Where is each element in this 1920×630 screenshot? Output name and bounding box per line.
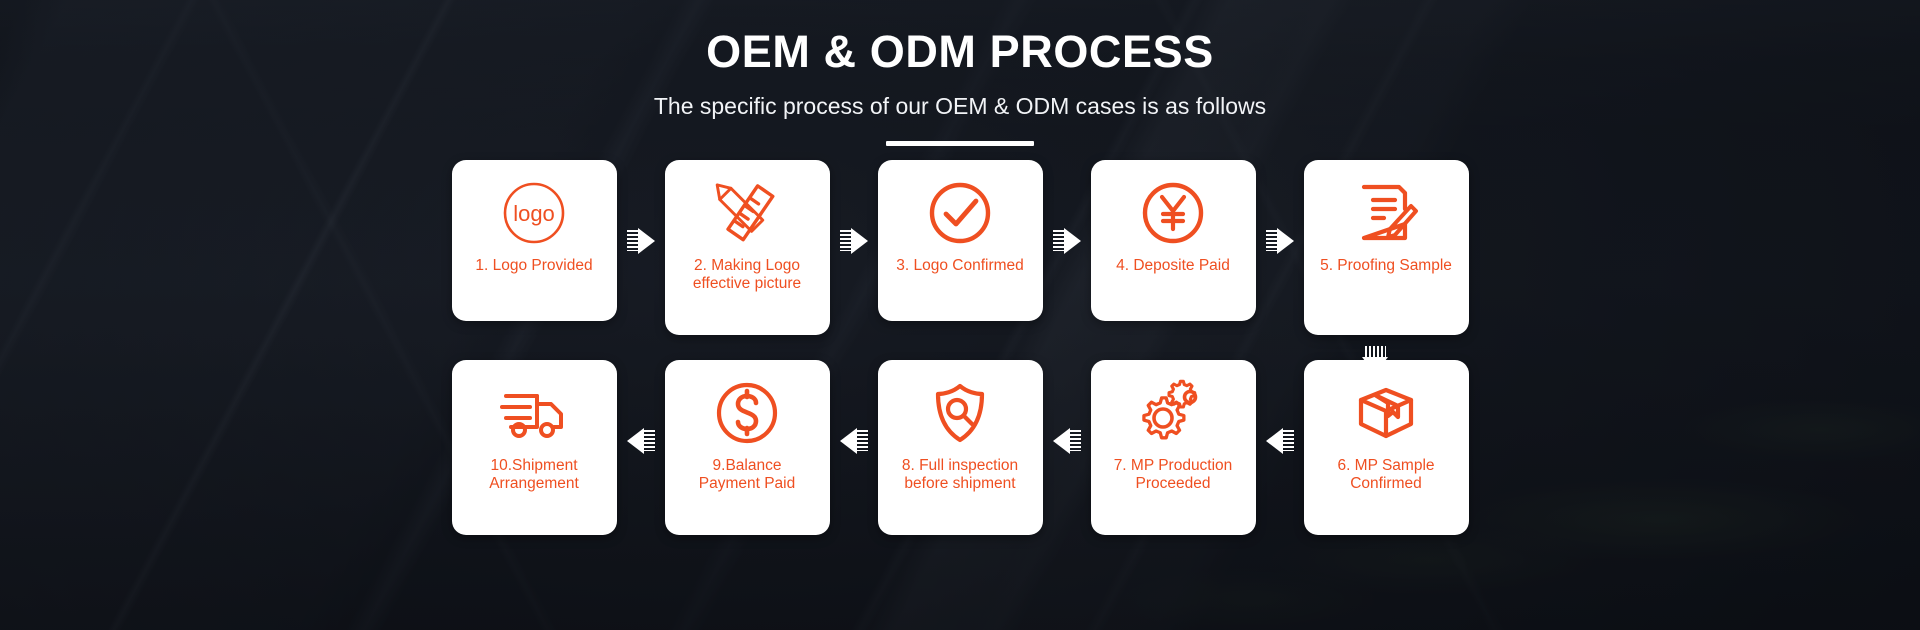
arrow-tail bbox=[1365, 346, 1386, 357]
dollar-circle-icon bbox=[710, 376, 784, 450]
yen-circle-icon bbox=[1136, 176, 1210, 250]
process-step-3-label: 3. Logo Confirmed bbox=[891, 257, 1029, 275]
title-divider bbox=[886, 141, 1034, 146]
arrow-tail bbox=[1070, 430, 1081, 451]
arrow-step4-to-step5 bbox=[1256, 160, 1304, 321]
process-step-2-label: 2. Making Logo effective picture bbox=[688, 257, 806, 294]
gears-icon bbox=[1136, 376, 1210, 450]
arrow-step1-to-step2 bbox=[617, 160, 665, 321]
process-step-9[interactable]: 9.Balance Payment Paid bbox=[665, 360, 830, 535]
arrow-head-left-icon bbox=[1266, 428, 1283, 454]
arrow-head-right-icon bbox=[638, 228, 655, 254]
arrow-head-left-icon bbox=[627, 428, 644, 454]
ruler-pencil-icon bbox=[710, 176, 784, 250]
arrow-step8-to-step9 bbox=[830, 360, 878, 521]
process-step-1-label: 1. Logo Provided bbox=[470, 257, 597, 275]
arrow-tail bbox=[627, 230, 638, 251]
arrow-head-left-icon bbox=[1053, 428, 1070, 454]
process-step-8-label: 8. Full inspection before shipment bbox=[897, 457, 1023, 494]
arrow-tail bbox=[857, 430, 868, 451]
arrow-head-right-icon bbox=[1064, 228, 1081, 254]
package-box-icon bbox=[1349, 376, 1423, 450]
process-step-9-label: 9.Balance Payment Paid bbox=[694, 457, 801, 494]
logo-circle-icon: logo bbox=[497, 176, 571, 250]
process-step-6-label: 6. MP Sample Confirmed bbox=[1332, 457, 1439, 494]
process-step-3[interactable]: 3. Logo Confirmed bbox=[878, 160, 1043, 321]
arrow-step6-to-step7 bbox=[1256, 360, 1304, 521]
page-subtitle: The specific process of our OEM & ODM ca… bbox=[0, 93, 1920, 121]
arrow-head-left-icon bbox=[840, 428, 857, 454]
arrow-step5-to-step6 bbox=[1360, 336, 1390, 384]
process-step-1[interactable]: logo 1. Logo Provided bbox=[452, 160, 617, 321]
delivery-truck-icon bbox=[497, 376, 571, 450]
process-step-5-label: 5. Proofing Sample bbox=[1315, 257, 1457, 275]
process-step-7[interactable]: 7. MP Production Proceeded bbox=[1091, 360, 1256, 535]
process-row-top: logo 1. Logo Provided bbox=[0, 160, 1920, 335]
process-step-10[interactable]: 10.Shipment Arrangement bbox=[452, 360, 617, 535]
oem-odm-process-banner: OEM & ODM PROCESS The specific process o… bbox=[0, 0, 1920, 630]
svg-text:logo: logo bbox=[513, 201, 555, 226]
process-step-2[interactable]: 2. Making Logo effective picture bbox=[665, 160, 830, 335]
arrow-step7-to-step8 bbox=[1043, 360, 1091, 521]
arrow-head-right-icon bbox=[851, 228, 868, 254]
arrow-head-down-icon bbox=[1362, 357, 1388, 374]
process-flow-diagram: logo 1. Logo Provided bbox=[0, 160, 1920, 560]
process-step-7-label: 7. MP Production Proceeded bbox=[1109, 457, 1238, 494]
arrow-step9-to-step10 bbox=[617, 360, 665, 521]
arrow-tail bbox=[1266, 230, 1277, 251]
process-step-4-label: 4. Deposite Paid bbox=[1111, 257, 1235, 275]
arrow-head-right-icon bbox=[1277, 228, 1294, 254]
process-step-4[interactable]: 4. Deposite Paid bbox=[1091, 160, 1256, 321]
page-title: OEM & ODM PROCESS bbox=[0, 27, 1920, 77]
process-row-bottom: 10.Shipment Arrangement bbox=[0, 360, 1920, 535]
arrow-tail bbox=[840, 230, 851, 251]
process-step-8[interactable]: 8. Full inspection before shipment bbox=[878, 360, 1043, 535]
process-step-5[interactable]: 5. Proofing Sample bbox=[1304, 160, 1469, 335]
arrow-tail bbox=[644, 430, 655, 451]
arrow-tail bbox=[1053, 230, 1064, 251]
document-pencil-icon bbox=[1349, 176, 1423, 250]
process-step-6[interactable]: 6. MP Sample Confirmed bbox=[1304, 360, 1469, 535]
arrow-tail bbox=[1283, 430, 1294, 451]
process-step-10-label: 10.Shipment Arrangement bbox=[484, 457, 584, 494]
shield-search-icon bbox=[923, 376, 997, 450]
arrow-step2-to-step3 bbox=[830, 160, 878, 321]
arrow-step3-to-step4 bbox=[1043, 160, 1091, 321]
content-container: OEM & ODM PROCESS The specific process o… bbox=[0, 0, 1920, 630]
check-circle-icon bbox=[923, 176, 997, 250]
header: OEM & ODM PROCESS The specific process o… bbox=[0, 0, 1920, 146]
